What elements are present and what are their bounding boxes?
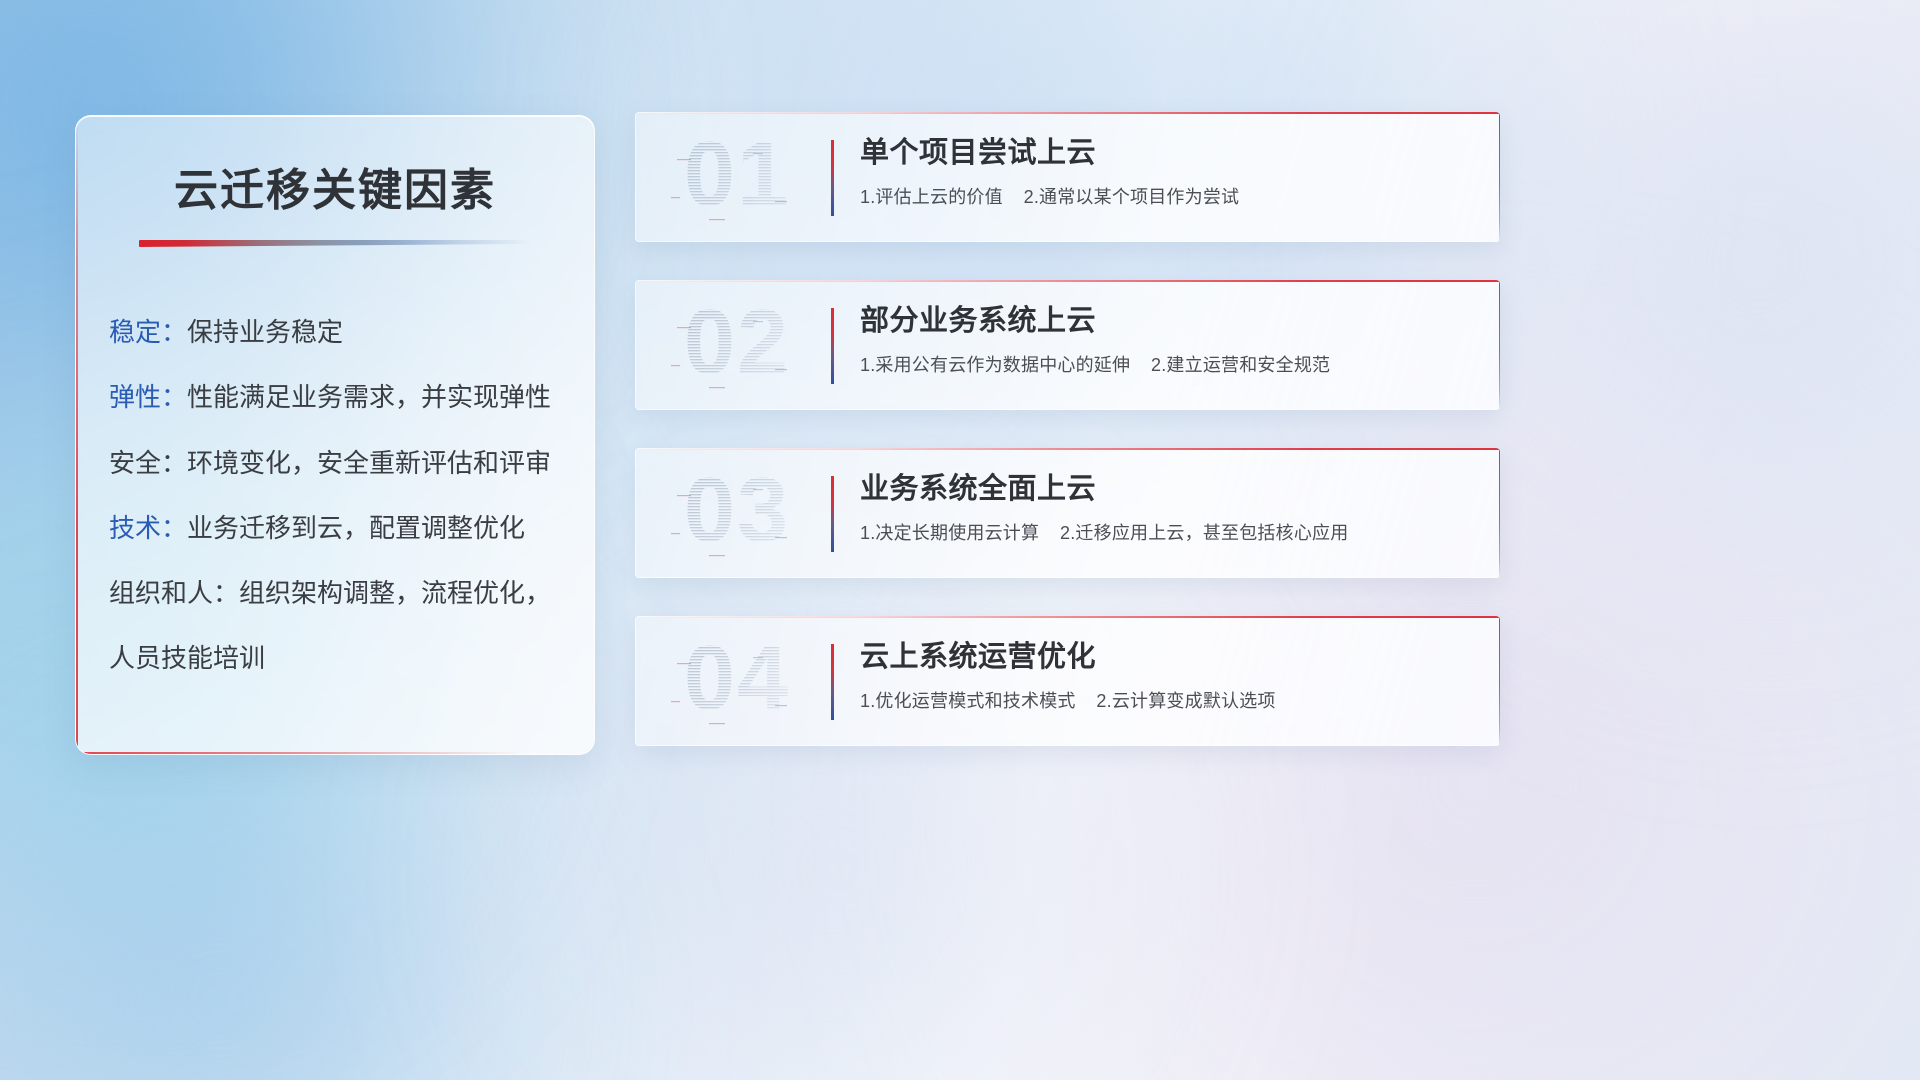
stage-card-list: 01单个项目尝试上云1.评估上云的价值 2.通常以某个项目作为尝试02部分业务系… bbox=[635, 112, 1500, 746]
card-accent-bar bbox=[831, 140, 834, 216]
card-title: 云上系统运营优化 bbox=[860, 640, 1470, 675]
key-factor-line: 安全：环境变化，安全重新评估和评审 bbox=[109, 450, 594, 477]
key-factor-text: 业务迁移到云，配置调整优化 bbox=[187, 513, 525, 543]
key-factor-text: 保持业务稳定 bbox=[187, 317, 343, 347]
stage-card[interactable]: 03业务系统全面上云1.决定长期使用云计算 2.迁移应用上云，甚至包括核心应用 bbox=[635, 448, 1500, 578]
key-factor-label: 稳定： bbox=[109, 317, 187, 347]
key-factor-label: 安全： bbox=[109, 448, 187, 478]
card-title: 业务系统全面上云 bbox=[860, 472, 1470, 507]
key-factor-text: 组织架构调整，流程优化， bbox=[239, 578, 551, 608]
card-top-accent-line bbox=[635, 112, 1500, 114]
card-subtitle: 1.评估上云的价值 2.通常以某个项目作为尝试 bbox=[860, 183, 1470, 209]
key-factor-label: 技术： bbox=[109, 513, 187, 543]
svg-text:04: 04 bbox=[684, 629, 790, 729]
card-right-accent-line bbox=[1499, 616, 1501, 746]
key-factor-line: 组织和人：组织架构调整，流程优化， bbox=[109, 580, 594, 607]
card-body: 部分业务系统上云1.采用公有云作为数据中心的延伸 2.建立运营和安全规范 bbox=[860, 304, 1470, 377]
card-body: 业务系统全面上云1.决定长期使用云计算 2.迁移应用上云，甚至包括核心应用 bbox=[860, 472, 1470, 545]
key-factor-line: 弹性：性能满足业务需求，并实现弹性 bbox=[109, 384, 594, 411]
card-accent-bar bbox=[831, 476, 834, 552]
card-top-accent-line bbox=[635, 280, 1500, 282]
svg-text:01: 01 bbox=[684, 125, 790, 225]
stage-number-watermark: 01 bbox=[657, 125, 817, 229]
key-factor-label: 弹性： bbox=[109, 382, 187, 412]
key-factors-list: 稳定：保持业务稳定弹性：性能满足业务需求，并实现弹性安全：环境变化，安全重新评估… bbox=[109, 319, 594, 673]
svg-text:03: 03 bbox=[684, 461, 790, 561]
card-body: 云上系统运营优化1.优化运营模式和技术模式 2.云计算变成默认选项 bbox=[860, 640, 1470, 713]
key-factor-line: 人员技能培训 bbox=[109, 645, 594, 672]
stage-card[interactable]: 02部分业务系统上云1.采用公有云作为数据中心的延伸 2.建立运营和安全规范 bbox=[635, 280, 1500, 410]
card-top-accent-line bbox=[635, 448, 1500, 450]
stage-card[interactable]: 04云上系统运营优化1.优化运营模式和技术模式 2.云计算变成默认选项 bbox=[635, 616, 1500, 746]
key-factors-panel: 云迁移关键因素 稳定：保持业务稳定弹性：性能满足业务需求，并实现弹性安全：环境变… bbox=[75, 115, 595, 755]
title-underline-accent bbox=[139, 240, 531, 247]
stage-number-watermark: 04 bbox=[657, 629, 817, 733]
card-body: 单个项目尝试上云1.评估上云的价值 2.通常以某个项目作为尝试 bbox=[860, 136, 1470, 209]
card-accent-bar bbox=[831, 644, 834, 720]
card-right-accent-line bbox=[1499, 280, 1501, 410]
stage-card[interactable]: 01单个项目尝试上云1.评估上云的价值 2.通常以某个项目作为尝试 bbox=[635, 112, 1500, 242]
stage-number-watermark: 02 bbox=[657, 293, 817, 397]
key-factor-line: 稳定：保持业务稳定 bbox=[109, 319, 594, 346]
card-subtitle: 1.采用公有云作为数据中心的延伸 2.建立运营和安全规范 bbox=[860, 351, 1470, 377]
card-accent-bar bbox=[831, 308, 834, 384]
key-factor-label: 组织和人： bbox=[109, 578, 239, 608]
panel-left-accent-line bbox=[76, 116, 78, 754]
card-top-accent-line bbox=[635, 616, 1500, 618]
card-title: 部分业务系统上云 bbox=[860, 304, 1470, 339]
key-factor-text: 性能满足业务需求，并实现弹性 bbox=[187, 382, 551, 412]
card-subtitle: 1.决定长期使用云计算 2.迁移应用上云，甚至包括核心应用 bbox=[860, 519, 1470, 545]
card-right-accent-line bbox=[1499, 112, 1501, 242]
card-title: 单个项目尝试上云 bbox=[860, 136, 1470, 171]
stage-number-watermark: 03 bbox=[657, 461, 817, 565]
card-subtitle: 1.优化运营模式和技术模式 2.云计算变成默认选项 bbox=[860, 687, 1470, 713]
key-factor-text: 人员技能培训 bbox=[109, 643, 265, 673]
key-factor-text: 环境变化，安全重新评估和评审 bbox=[187, 448, 551, 478]
panel-bottom-accent-line bbox=[76, 752, 594, 754]
page-title: 云迁移关键因素 bbox=[76, 154, 594, 218]
card-right-accent-line bbox=[1499, 448, 1501, 578]
svg-text:02: 02 bbox=[684, 293, 790, 393]
key-factor-line: 技术：业务迁移到云，配置调整优化 bbox=[109, 515, 594, 542]
